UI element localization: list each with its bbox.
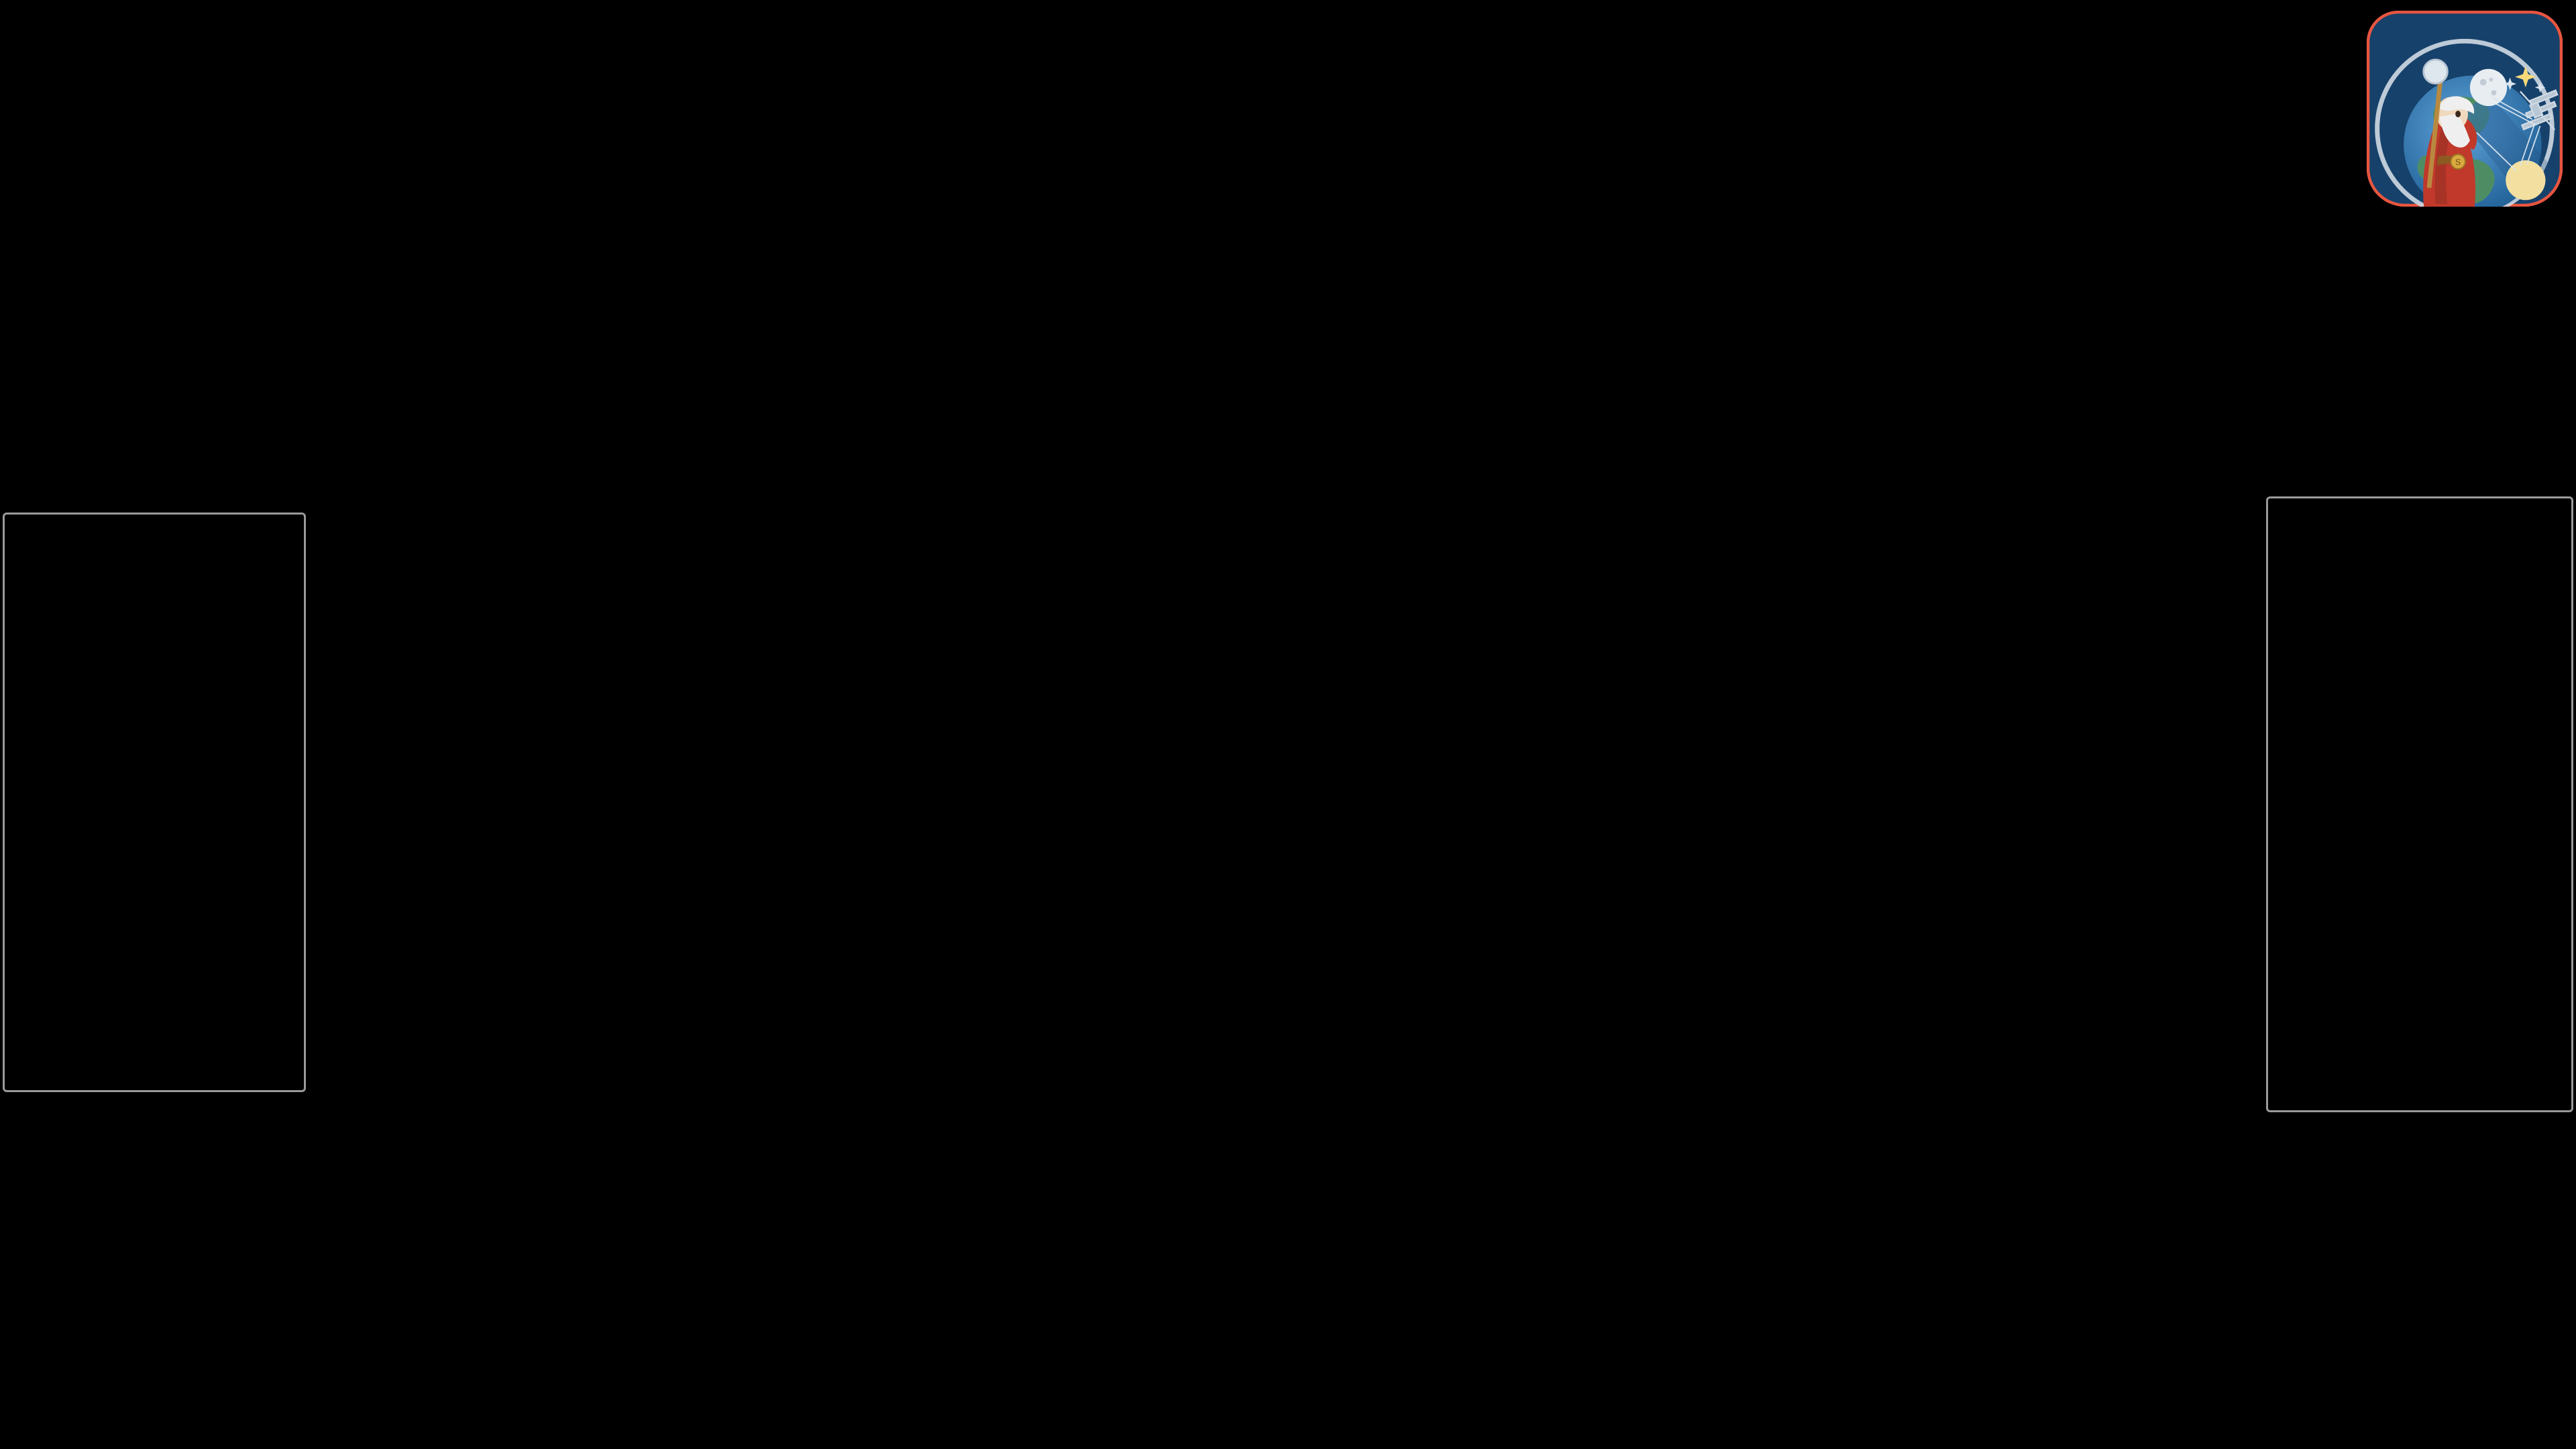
svg-text:S: S [2455,158,2461,167]
sunrise-plot [449,140,1271,1250]
sunset-event-legend[interactable] [2266,496,2573,1112]
tropopause-legend [0,1311,416,1439]
sunset-plot [1434,140,2255,1250]
sunrise-event-legend[interactable] [3,513,306,1092]
sage-iii-iss-mission-patch: S [2359,3,2571,215]
